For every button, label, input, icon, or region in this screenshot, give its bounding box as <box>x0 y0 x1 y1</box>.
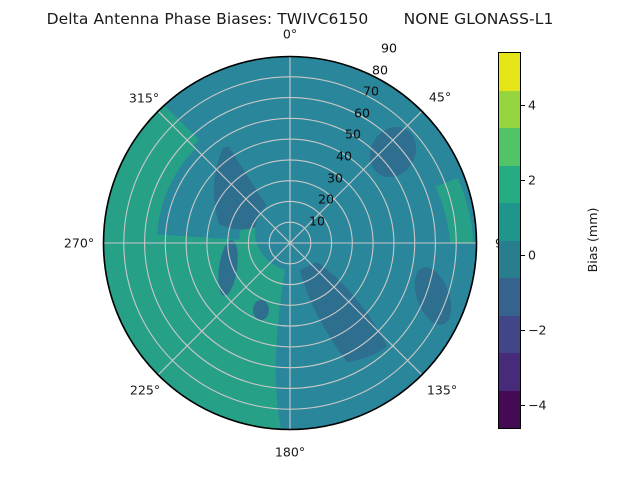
polar-angular-gridlines <box>103 56 477 430</box>
angular-tick-0: 0° <box>283 27 297 42</box>
colorbar-band-6 <box>499 278 520 316</box>
colorbar-tickmark-n2 <box>521 330 525 331</box>
colorbar: 4 2 0 −2 −4 Bias (mm) <box>498 52 628 432</box>
colorbar-band-8 <box>499 353 520 391</box>
angular-tick-315: 315° <box>129 91 159 106</box>
colorbar-ticklabel-4: 4 <box>528 98 536 113</box>
colorbar-band-0 <box>499 53 520 91</box>
heat-region-blue-nw-small <box>253 300 269 320</box>
colorbar-axis-label: Bias (mm) <box>585 208 600 273</box>
radial-tick-30: 30 <box>327 171 343 186</box>
colorbar-band-7 <box>499 316 520 354</box>
angular-tick-225: 225° <box>130 383 160 398</box>
polar-plot: 0° 45° 90 135° 180° 225° 270° 315° 10 20… <box>103 56 477 430</box>
angular-tick-180: 180° <box>275 445 305 460</box>
colorbar-tickmark-4 <box>521 105 525 106</box>
colorbar-ticklabel-n4: −4 <box>528 398 547 413</box>
colorbar-ticklabel-n2: −2 <box>528 323 547 338</box>
radial-tick-60: 60 <box>354 106 370 121</box>
colorbar-band-1 <box>499 91 520 129</box>
colorbar-band-9 <box>499 391 520 429</box>
colorbar-tickmark-2 <box>521 180 525 181</box>
colorbar-band-2 <box>499 128 520 166</box>
colorbar-band-5 <box>499 241 520 279</box>
angular-tick-45: 45° <box>429 90 451 105</box>
radial-tick-70: 70 <box>363 84 379 99</box>
radial-tick-90: 90 <box>381 41 397 56</box>
radial-tick-50: 50 <box>345 127 361 142</box>
colorbar-band-4 <box>499 203 520 241</box>
radial-tick-10: 10 <box>309 214 325 229</box>
polar-canvas <box>103 56 477 430</box>
colorbar-band-3 <box>499 166 520 204</box>
colorbar-tickmark-0 <box>521 255 525 256</box>
angular-tick-270: 270° <box>64 236 94 251</box>
radial-tick-20: 20 <box>318 192 334 207</box>
radial-tick-80: 80 <box>372 63 388 78</box>
angular-tick-135: 135° <box>427 383 457 398</box>
colorbar-tickmark-n4 <box>521 405 525 406</box>
radial-tick-40: 40 <box>336 149 352 164</box>
colorbar-ticklabel-2: 2 <box>528 173 536 188</box>
chart-title: Delta Antenna Phase Biases: TWIVC6150 NO… <box>0 10 600 28</box>
polar-bias-figure: Delta Antenna Phase Biases: TWIVC6150 NO… <box>0 0 640 480</box>
colorbar-gradient <box>498 52 521 429</box>
colorbar-ticklabel-0: 0 <box>528 248 536 263</box>
